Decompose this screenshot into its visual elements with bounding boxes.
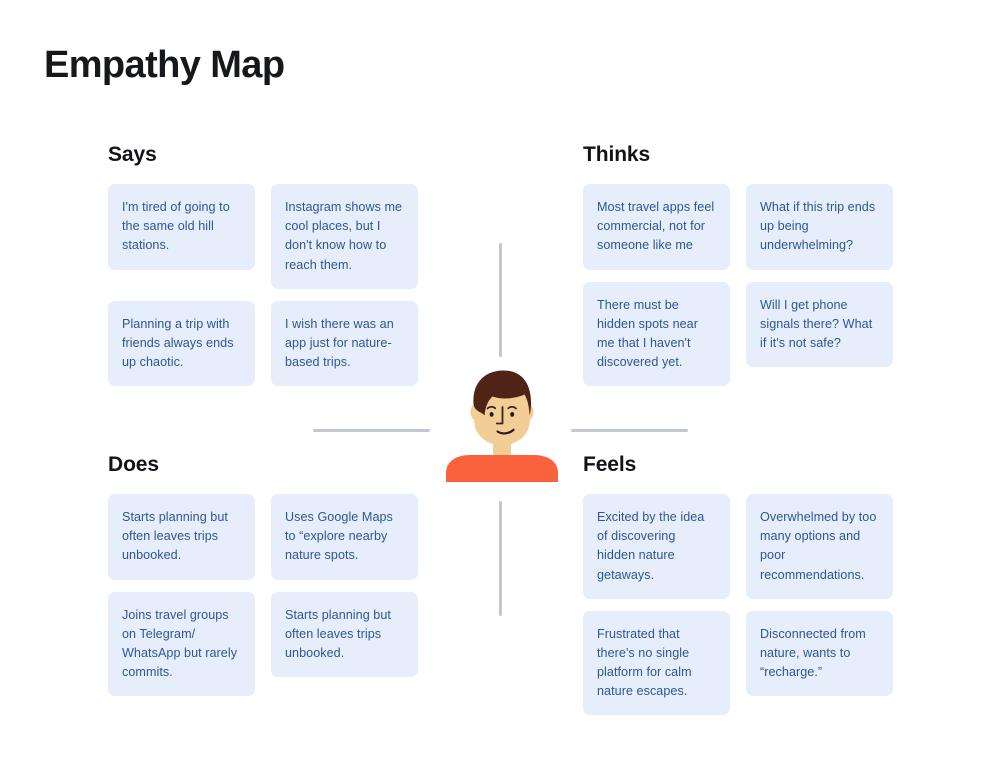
note-card[interactable]: Starts planning but often leaves trips u… — [271, 592, 418, 677]
divider-horizontal-left — [313, 429, 430, 432]
quadrant-title-does: Does — [108, 453, 428, 476]
quadrant-feels: Feels Excited by the idea of discovering… — [583, 453, 903, 715]
divider-vertical-top — [499, 243, 502, 357]
note-card[interactable]: Will I get phone signals there? What if … — [746, 282, 893, 367]
divider-vertical-bottom — [499, 501, 502, 616]
note-card[interactable]: What if this trip ends up being underwhe… — [746, 184, 893, 269]
quadrant-title-says: Says — [108, 143, 428, 166]
note-card[interactable]: Most travel apps feel commercial, not fo… — [583, 184, 730, 269]
note-card[interactable]: There must be hidden spots near me that … — [583, 282, 730, 387]
note-card[interactable]: I wish there was an app just for nature-… — [271, 301, 418, 386]
note-card[interactable]: Starts planning but often leaves trips u… — [108, 494, 255, 579]
note-card[interactable]: Instagram shows me cool places, but I do… — [271, 184, 418, 289]
quadrant-does: Does Starts planning but often leaves tr… — [108, 453, 428, 696]
card-grid-says: I'm tired of going to the same old hill … — [108, 184, 428, 386]
shirt-shape — [446, 455, 558, 482]
eye-left-icon — [490, 412, 494, 417]
note-card[interactable]: Planning a trip with friends always ends… — [108, 301, 255, 386]
quadrant-title-thinks: Thinks — [583, 143, 903, 166]
persona-avatar — [440, 363, 564, 485]
card-grid-feels: Excited by the idea of discovering hidde… — [583, 494, 903, 715]
quadrant-says: Says I'm tired of going to the same old … — [108, 143, 428, 386]
empathy-map-canvas: Empathy Map Says I'm tired of going to t… — [0, 0, 1000, 763]
note-card[interactable]: Frustrated that there's no single platfo… — [583, 611, 730, 716]
note-card[interactable]: I'm tired of going to the same old hill … — [108, 184, 255, 269]
note-card[interactable]: Disconnected from nature, wants to “rech… — [746, 611, 893, 696]
note-card[interactable]: Uses Google Maps to “explore nearby natu… — [271, 494, 418, 579]
quadrant-thinks: Thinks Most travel apps feel commercial,… — [583, 143, 903, 386]
card-grid-does: Starts planning but often leaves trips u… — [108, 494, 428, 696]
note-card[interactable]: Overwhelmed by too many options and poor… — [746, 494, 893, 599]
page-title: Empathy Map — [44, 44, 284, 88]
card-grid-thinks: Most travel apps feel commercial, not fo… — [583, 184, 903, 386]
note-card[interactable]: Excited by the idea of discovering hidde… — [583, 494, 730, 599]
eye-right-icon — [510, 412, 514, 417]
note-card[interactable]: Joins travel groups on Telegram/ WhatsAp… — [108, 592, 255, 697]
quadrant-title-feels: Feels — [583, 453, 903, 476]
divider-horizontal-right — [571, 429, 688, 432]
